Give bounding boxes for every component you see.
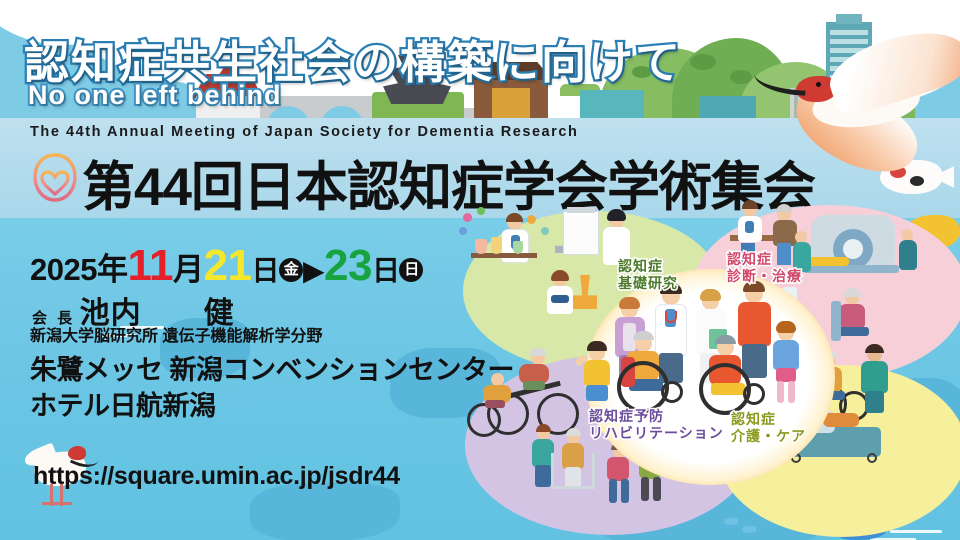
walker-frame-icon — [551, 453, 595, 489]
date-start-day: 21 — [203, 241, 251, 290]
poster-main-title-en: No one left behind — [28, 80, 282, 111]
mri-bed-icon — [803, 265, 899, 273]
molecule-node — [477, 207, 485, 215]
molecule-node — [459, 227, 467, 235]
molecule-node — [527, 215, 536, 224]
conference-website-url[interactable]: https://square.umin.ac.jp/jsdr44 — [33, 462, 400, 491]
conference-dates: 2025年11月21日金▶23日日 — [30, 244, 423, 288]
date-range-arrow: ▶ — [303, 255, 324, 286]
venue-line-2: ホテル日航新潟 — [30, 384, 216, 423]
date-month-unit: 月 — [173, 252, 204, 287]
jsdr-heart-logo — [27, 150, 83, 206]
caption-prevention-rehab: 認知症予防 リハビリテーション — [589, 408, 724, 441]
patient-on-bed — [807, 257, 849, 266]
armchair-icon — [831, 301, 841, 341]
date-unit-2: 日 — [372, 255, 400, 286]
wheelchair-caster-icon — [743, 383, 765, 405]
date-unit-1: 日 — [251, 255, 279, 286]
chair-affiliation: 新潟大学脳研究所 遺伝子機能解析学分野 — [30, 322, 322, 346]
shrine-gold-door-icon — [492, 88, 530, 122]
molecule-node — [541, 227, 549, 235]
caption-care: 認知症 介護・ケア — [731, 411, 806, 444]
conference-poster: 認知症共生社会の構築に向けて No one left behind The 44… — [0, 0, 960, 540]
flask-icon — [475, 239, 487, 254]
venue-line-1: 朱鷺メッセ 新潟コンベンションセンター — [30, 348, 514, 387]
mri-bore-inner — [843, 239, 863, 259]
beaker-icon — [513, 241, 523, 254]
bed-caster — [867, 453, 877, 463]
date-end-day: 23 — [324, 241, 372, 290]
caption-diagnosis: 認知症 診断・治療 — [727, 251, 802, 284]
weekday-badge-start: 金 — [279, 258, 303, 282]
crested-ibis-bird-icon — [770, 18, 960, 218]
document-clip — [567, 207, 595, 213]
weekday-badge-end: 日 — [399, 258, 423, 282]
date-month-number: 11 — [127, 241, 173, 290]
tree-cluster-icon — [730, 70, 752, 84]
wheelchair-caster-icon — [661, 381, 683, 403]
molecule-node — [463, 213, 472, 222]
bicycle-wheel-icon — [467, 403, 501, 437]
dementia-themes-illustration: 認知症 基礎研究 認知症 診断・治療 認知症予防 リハビリテーション 認知症 介… — [455, 205, 960, 540]
caption-basic-research: 認知症 基礎研究 — [618, 258, 678, 291]
flask-icon — [491, 237, 502, 254]
date-year: 2025年 — [30, 252, 127, 287]
conference-english-title: The 44th Annual Meeting of Japan Society… — [30, 124, 578, 140]
tree-cluster-icon — [690, 54, 716, 70]
map-silhouette — [250, 483, 400, 540]
document-icon — [563, 211, 599, 255]
